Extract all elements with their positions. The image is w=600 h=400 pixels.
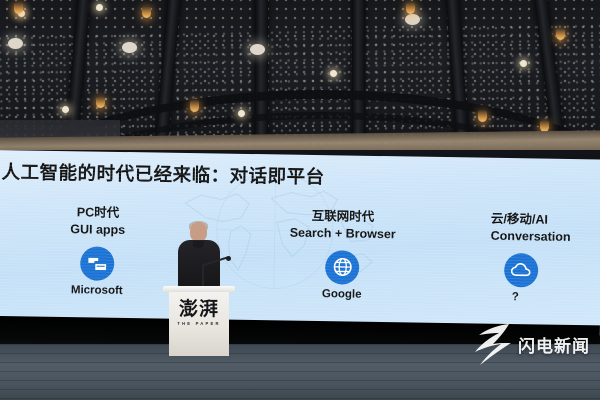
windows-apps-icon [80,246,115,281]
stage-spotlight [556,28,565,40]
stage-spotlight [478,110,487,122]
speaker-head [190,222,207,242]
podium: 澎湃 THE PAPER [166,286,232,360]
lightning-ribbon-icon [471,322,513,366]
downlight [8,38,23,49]
column-caption: Microsoft [32,283,162,297]
podium-logo: 澎湃 [169,300,229,319]
downlight [520,60,527,67]
column-heading-en: Search + Browser [263,224,423,243]
stage-spotlight [190,100,199,112]
podium-logo-subtitle: THE PAPER [169,321,229,326]
stage-spotlight [96,96,105,108]
downlight [238,110,245,117]
cloud-icon [504,253,539,288]
downlight [62,106,69,113]
downlight [330,70,337,77]
globe-icon [325,250,360,285]
watermark-label: 闪电新闻 [518,332,590,357]
downlight [122,42,137,53]
column-heading-en: GUI apps [33,220,163,238]
microphone-head [226,256,231,261]
slide-column-pc-era: PC时代 GUI apps Microsoft [32,205,163,298]
microphone-stem [202,264,204,288]
slide-title: 人工智能的时代已经来临：对话即平台 [1,158,324,189]
stage-spotlight [406,2,415,14]
column-caption: ? [512,291,600,305]
speaker-collar [193,241,204,248]
downlight [250,44,265,55]
stage-spotlight [142,6,151,18]
presentation-screen: 人工智能的时代已经来临：对话即平台 PC时代 GUI apps Microsof… [0,150,600,336]
speaker-person [176,222,222,292]
broadcaster-watermark: 闪电新闻 [471,322,590,366]
column-caption: Google [262,287,422,302]
column-heading-cn: 云/移动/AI [491,212,600,230]
downlight [96,4,103,11]
slide-column-internet-era: 互联网时代 Search + Browser Google [262,208,423,301]
podium-panel: 澎湃 THE PAPER [169,292,229,356]
photo-scene: 人工智能的时代已经来临：对话即平台 PC时代 GUI apps Microsof… [0,0,600,400]
slide-column-ai-era: 云/移动/AI Conversation ? [490,212,600,305]
stage-spotlight [14,2,23,14]
ceiling [0,0,600,160]
column-heading-en: Conversation [491,227,600,245]
downlight [405,14,420,25]
